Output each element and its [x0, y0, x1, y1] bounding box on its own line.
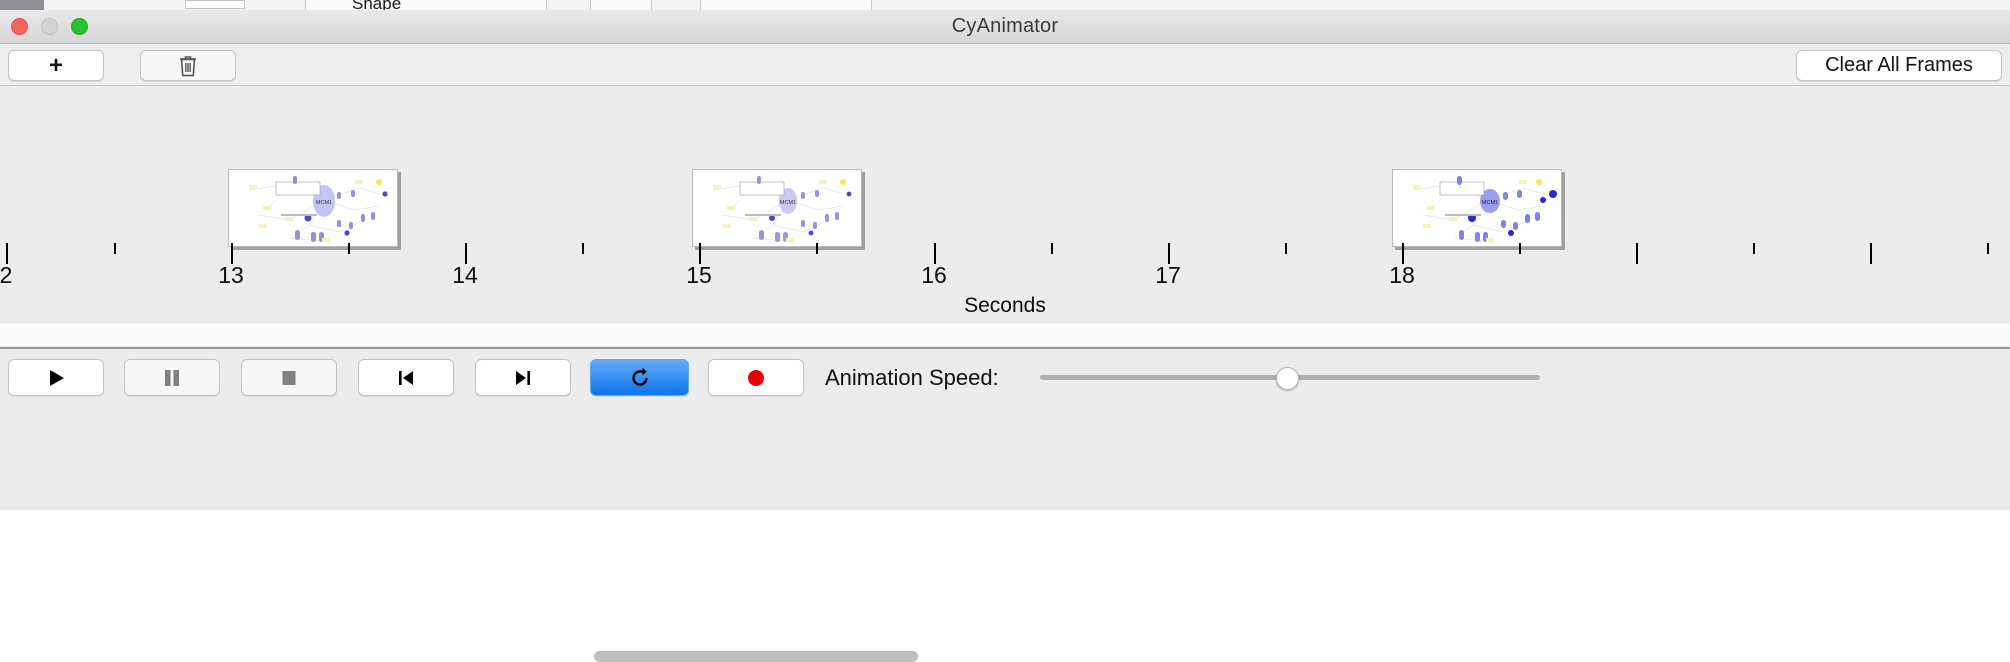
axis-tick-minor — [114, 243, 116, 254]
axis-tick-label: 18 — [1389, 262, 1415, 289]
network-thumbnail-graphic: MCM1 — [229, 170, 398, 247]
skip-to-start-button[interactable] — [358, 359, 454, 396]
title-bar[interactable]: CyAnimator — [0, 10, 2010, 44]
frame-timeline-panel[interactable]: MCM1 — [0, 86, 2010, 326]
record-icon — [745, 367, 767, 389]
svg-text:MCM1: MCM1 — [1482, 200, 1498, 206]
frame-toolbar: + Clear All Frames — [0, 44, 2010, 86]
host-field-block — [185, 0, 245, 9]
play-icon — [45, 367, 67, 389]
svg-text:MCM1: MCM1 — [316, 200, 332, 206]
pause-icon — [162, 367, 182, 389]
axis-tick-minor — [1285, 243, 1287, 254]
svg-text:MCM1: MCM1 — [780, 200, 796, 206]
axis-tick-minor — [816, 243, 818, 254]
window-title: CyAnimator — [0, 10, 2010, 43]
axis-tick-major — [1636, 243, 1638, 264]
clear-all-frames-button[interactable]: Clear All Frames — [1796, 50, 2002, 81]
timeline-scrollbar-track[interactable] — [0, 322, 2010, 346]
axis-tick-major — [934, 243, 936, 264]
skip-back-icon — [395, 367, 417, 389]
timeline-scrollbar-thumb[interactable] — [594, 651, 918, 662]
pause-button[interactable] — [124, 359, 220, 396]
axis-tick-minor — [582, 243, 584, 254]
timeline-frame-thumbnail[interactable]: MCM1 — [228, 169, 398, 247]
cyanimator-window: Shape CyAnimator + Clear All Frames — [0, 0, 2010, 510]
play-button[interactable] — [8, 359, 104, 396]
clear-all-frames-label: Clear All Frames — [1825, 54, 1973, 77]
stop-icon — [279, 367, 299, 389]
host-tab-mid — [590, 0, 652, 10]
axis-tick-label: 13 — [218, 262, 244, 289]
axis-title: Seconds — [0, 294, 2010, 318]
record-button[interactable] — [708, 359, 804, 396]
host-toolbar-block — [0, 0, 44, 10]
axis-tick-major — [6, 243, 8, 264]
add-frame-button[interactable]: + — [8, 50, 104, 81]
skip-forward-icon — [512, 367, 534, 389]
axis-tick-major — [1168, 243, 1170, 264]
axis-tick-major — [699, 243, 701, 264]
network-thumbnail-graphic: MCM1 — [1393, 170, 1562, 247]
animation-speed-label: Animation Speed: — [825, 365, 999, 391]
axis-tick-label: 14 — [452, 262, 478, 289]
axis-tick-minor — [1051, 243, 1053, 254]
axis-tick-minor — [1753, 243, 1755, 254]
delete-frame-button[interactable] — [140, 50, 236, 81]
axis-tick-minor — [1519, 243, 1521, 254]
host-tab-left — [305, 0, 547, 10]
loop-icon — [627, 365, 653, 391]
axis-tick-label: 17 — [1155, 262, 1181, 289]
network-thumbnail-graphic: MCM1 — [693, 170, 862, 247]
axis-tick-major — [231, 243, 233, 264]
skip-to-end-button[interactable] — [475, 359, 571, 396]
host-tab-right — [700, 0, 872, 10]
plus-icon: + — [49, 52, 63, 80]
axis-tick-minor — [1987, 243, 1989, 254]
axis-tick-major — [465, 243, 467, 264]
loop-button[interactable] — [590, 359, 689, 396]
axis-tick-minor — [348, 243, 350, 254]
trash-icon — [177, 54, 199, 78]
axis-tick-major — [1870, 243, 1872, 264]
timeline-frame-thumbnail[interactable]: MCM1 — [692, 169, 862, 247]
axis-tick-label: 2 — [0, 262, 12, 289]
animation-speed-slider-knob[interactable] — [1276, 367, 1299, 390]
playback-toolbar: Animation Speed: — [0, 347, 2010, 510]
axis-tick-label: 16 — [921, 262, 947, 289]
stop-button[interactable] — [241, 359, 337, 396]
axis-tick-major — [1402, 243, 1404, 264]
axis-tick-label: 15 — [686, 262, 712, 289]
timeline-frame-thumbnail[interactable]: MCM1 — [1392, 169, 1562, 247]
